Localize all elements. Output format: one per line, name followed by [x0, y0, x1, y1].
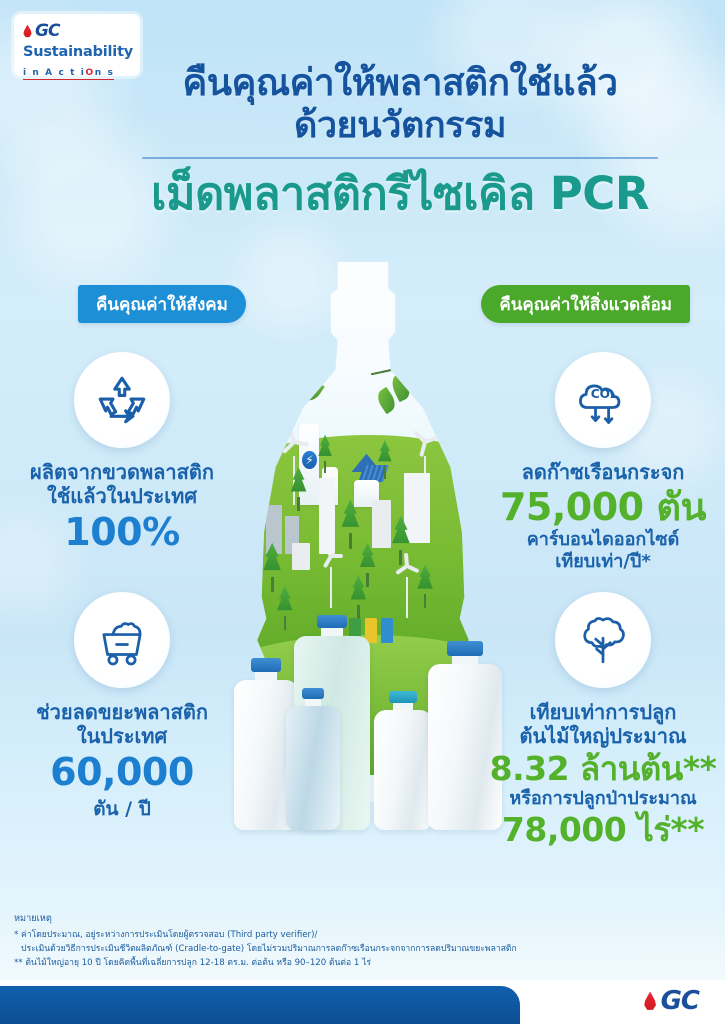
leaf-branch-left — [253, 327, 363, 446]
footnotes-header: หมายเหตุ — [14, 912, 711, 927]
stat-sub-line-1: หรือการปลูกป่าประมาณ — [487, 788, 719, 811]
logo-sustainability-text: Sustainability — [23, 44, 131, 60]
stat-text-line-1: ช่วยลดขยะพลาสติก — [6, 700, 238, 724]
logo-in-actions-text: i n A c t iOn s — [23, 68, 114, 80]
bottle-illustration: ⚡ — [228, 262, 498, 822]
footer-gc-logo: GC — [644, 986, 699, 1016]
stat-block-waste-reduction: ช่วยลดขยะพลาสติก ในประเทศ 60,000 ตัน / ป… — [6, 592, 238, 824]
logo-in-acti: i n A c t i — [23, 68, 85, 78]
title-main-product: เม็ดพลาสติกรีไซเคิล PCR — [120, 169, 680, 219]
footnote-line-1: * ค่าโดยประมาณ, อยู่ระหว่างการประเมินโดย… — [14, 929, 711, 943]
tree — [391, 516, 412, 565]
stat-value: 60,000 — [6, 751, 238, 794]
stat-text-line-1: ผลิตจากขวดพลาสติก — [6, 460, 238, 484]
recycle-icon — [74, 352, 170, 448]
footnote-line-2: ประเมินด้วยวิธีการประเมินชีวิตผลิตภัณฑ์ … — [14, 943, 711, 957]
stat-block-recycled-source: ผลิตจากขวดพลาสติก ใช้แล้วในประเทศ 100% — [6, 352, 238, 553]
title-divider — [142, 157, 658, 159]
stat-value: 100% — [6, 511, 238, 554]
title-line-2: ด้วยนวัตกรรม — [120, 105, 680, 147]
stat-text-line-2: ในประเทศ — [6, 724, 238, 748]
tree-icon — [555, 592, 651, 688]
stat-text-line-1: เทียบเท่าการปลูก — [487, 700, 719, 724]
stat-block-tree-equivalent: เทียบเท่าการปลูก ต้นไม้ใหญ่ประมาณ 8.32 ล… — [487, 592, 719, 849]
stat-unit: ตัน / ปี — [6, 794, 238, 824]
stat-text-line-1: ลดก๊าซเรือนกระจก — [487, 460, 719, 484]
plastic-bottles-group — [228, 590, 498, 830]
small-water-bottle — [286, 690, 340, 830]
stat-text-line-2: ใช้แล้วในประเทศ — [6, 484, 238, 508]
tree — [262, 543, 283, 592]
milk-bottle — [374, 694, 432, 830]
stat-sub-line-2: เทียบเท่า/ปี* — [487, 551, 719, 574]
turbine-blade — [395, 565, 408, 576]
footnote-line-3: ** ต้นไม้ใหญ่อายุ 10 ปี โดยคิดพื้นที่เฉล… — [14, 957, 711, 971]
logo-top-row: GC — [23, 21, 131, 41]
stat-block-ghg-reduction: CO₂ ลดก๊าซเรือนกระจก 75,000 ตัน คาร์บอนไ… — [487, 352, 719, 574]
footnotes: หมายเหตุ * ค่าโดยประมาณ, อยู่ระหว่างการป… — [14, 912, 711, 971]
gc-wordmark: GC — [35, 21, 59, 41]
footer-blue-bar — [0, 986, 520, 1024]
waste-bin-cart-icon — [74, 592, 170, 688]
stat-value-secondary: 78,000 ไร่** — [487, 812, 719, 849]
water-drop-icon — [644, 992, 657, 1011]
turbine-blade — [331, 554, 344, 558]
stat-value: 75,000 ตัน — [487, 486, 719, 529]
city-building — [372, 500, 390, 549]
logo-o-accent: O — [85, 68, 94, 78]
banner-social-value: คืนคุณค่าให้สังคม — [78, 285, 246, 323]
co2-cloud-reduction-icon: CO₂ — [555, 352, 651, 448]
tree — [340, 500, 361, 549]
svg-text:CO₂: CO₂ — [591, 387, 616, 401]
stat-text-line-2: ต้นไม้ใหญ่ประมาณ — [487, 724, 719, 748]
tree — [289, 467, 307, 510]
title-line-1: คืนคุณค่าให้พลาสติกใช้แล้ว — [120, 62, 680, 105]
footer: GC — [0, 980, 725, 1024]
city-building — [319, 478, 335, 554]
stat-sub-line-1: คาร์บอนไดออกไซด์ — [487, 529, 719, 552]
logo-ns: n s — [95, 68, 115, 78]
stat-value: 8.32 ล้านต้น** — [487, 751, 719, 788]
leaf-branch-right — [358, 338, 473, 468]
water-drop-icon — [23, 25, 32, 38]
header-title-block: คืนคุณค่าให้พลาสติกใช้แล้ว ด้วยนวัตกรรม … — [120, 62, 680, 218]
infographic-poster: GC Sustainability i n A c t iOn s คืนคุณ… — [0, 0, 725, 1024]
city-building — [292, 543, 310, 570]
gc-wordmark: GC — [661, 986, 699, 1016]
banner-environmental-value: คืนคุณค่าให้สิ่งแวดล้อม — [481, 285, 690, 323]
